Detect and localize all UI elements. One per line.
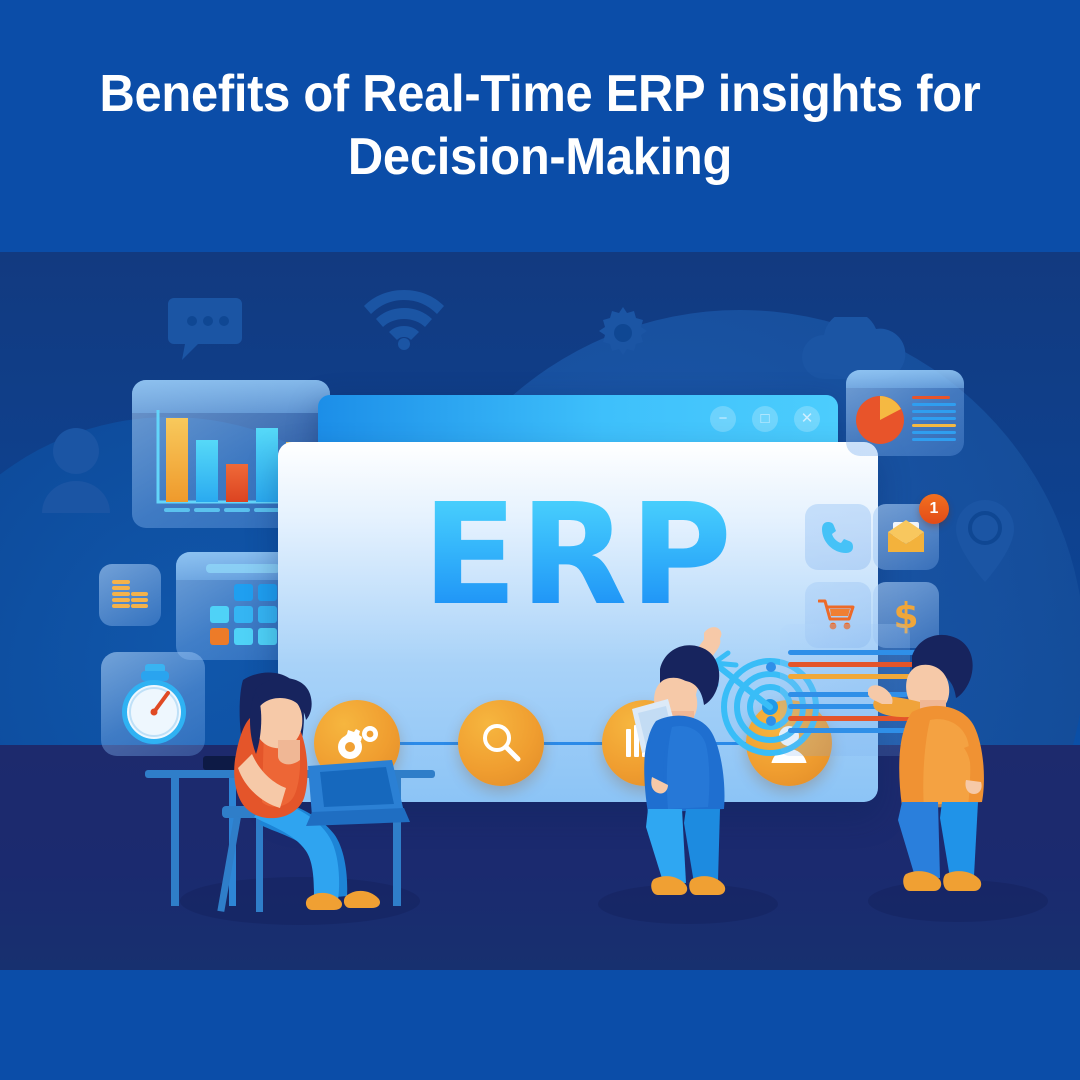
maximize-icon[interactable]: □ [752, 406, 778, 432]
location-pin-icon [955, 500, 1015, 582]
page-title: Benefits of Real-Time ERP insights for D… [65, 63, 1014, 190]
erp-logo-text: ERP [278, 474, 878, 637]
man-reaching [868, 612, 1058, 907]
envelope-icon[interactable]: 1 [873, 504, 939, 570]
mail-badge: 1 [919, 494, 949, 524]
phone-icon[interactable] [805, 504, 871, 570]
coins-icon [99, 564, 161, 626]
close-icon[interactable]: ✕ [794, 406, 820, 432]
search-icon[interactable] [458, 700, 544, 786]
header-banner: Benefits of Real-Time ERP insights for D… [0, 0, 1080, 252]
page-title-line-1: Benefits of Real-Time ERP insights for [65, 63, 1014, 126]
avatar-icon [40, 427, 112, 513]
phone-glyph [820, 519, 856, 555]
magnifier-glyph [479, 721, 523, 765]
footer-band [0, 970, 1080, 1080]
page-title-line-2: Decision-Making [65, 126, 1014, 189]
wifi-icon [358, 280, 450, 352]
chat-bubble-icon [168, 294, 248, 366]
gear-icon [597, 307, 649, 359]
minimize-icon[interactable]: − [710, 406, 736, 432]
pie-chart-graphic [854, 392, 958, 450]
envelope-glyph [886, 520, 926, 554]
poster-root: Benefits of Real-Time ERP insights for D… [0, 0, 1080, 1080]
illustration-stage: − □ ✕ ERP [0, 252, 1080, 970]
pie-chart-card-header [846, 370, 964, 388]
window-titlebar: − □ ✕ [318, 395, 838, 442]
woman-at-desk [208, 662, 418, 912]
coins-glyph [110, 578, 150, 612]
man-pointing [612, 617, 792, 907]
pie-chart-card [846, 370, 964, 456]
stopwatch-card [101, 652, 205, 756]
stopwatch-icon [115, 664, 193, 746]
